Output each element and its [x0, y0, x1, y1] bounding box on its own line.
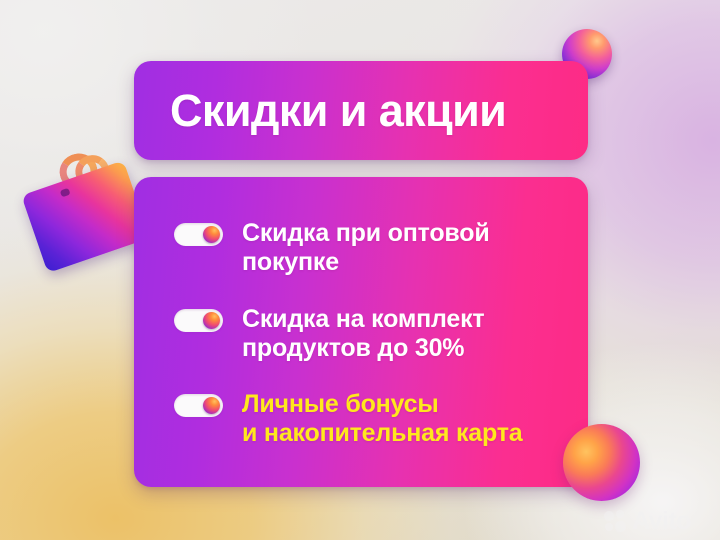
feature-label-line: и накопительная карта	[242, 419, 522, 448]
avito-logo-dot	[615, 521, 626, 532]
feature-label-line: Личные бонусы	[242, 390, 522, 419]
feature-label-line: Скидка на комплект	[242, 305, 484, 334]
toggle-knob	[203, 312, 220, 329]
toggle-switch-bundle-discount[interactable]	[174, 309, 223, 332]
feature-label-line: покупке	[242, 248, 490, 277]
feature-label: Скидка на комплект продуктов до 30%	[242, 305, 484, 364]
toggle-switch-wholesale-discount[interactable]	[174, 223, 223, 246]
avito-logo-dot	[604, 511, 614, 521]
feature-label: Скидка при оптовой покупке	[242, 219, 490, 278]
page-title: Скидки и акции	[170, 88, 506, 133]
toggle-knob	[203, 226, 220, 243]
features-card: Скидка при оптовой покупке Скидка на ком…	[134, 177, 588, 487]
avito-watermark: Avito	[604, 509, 691, 534]
feature-label-line: Скидка при оптовой	[242, 219, 490, 248]
feature-row[interactable]: Личные бонусы и накопительная карта	[174, 390, 564, 449]
avito-logo-icon	[604, 510, 627, 533]
title-card: Скидки и акции	[134, 61, 588, 160]
toggle-switch-personal-bonuses[interactable]	[174, 394, 223, 417]
avito-logo-dot	[616, 510, 624, 518]
toggle-knob	[203, 397, 220, 414]
decorative-sphere-bottom-right	[563, 424, 640, 501]
promo-banner: Скидки и акции Скидка при оптовой покупк…	[0, 0, 720, 540]
avito-logo-dot	[605, 523, 613, 531]
feature-label-line: продуктов до 30%	[242, 334, 484, 363]
feature-label: Личные бонусы и накопительная карта	[242, 390, 522, 449]
feature-row[interactable]: Скидка на комплект продуктов до 30%	[174, 305, 564, 364]
feature-row[interactable]: Скидка при оптовой покупке	[174, 219, 564, 278]
avito-wordmark: Avito	[632, 509, 691, 534]
